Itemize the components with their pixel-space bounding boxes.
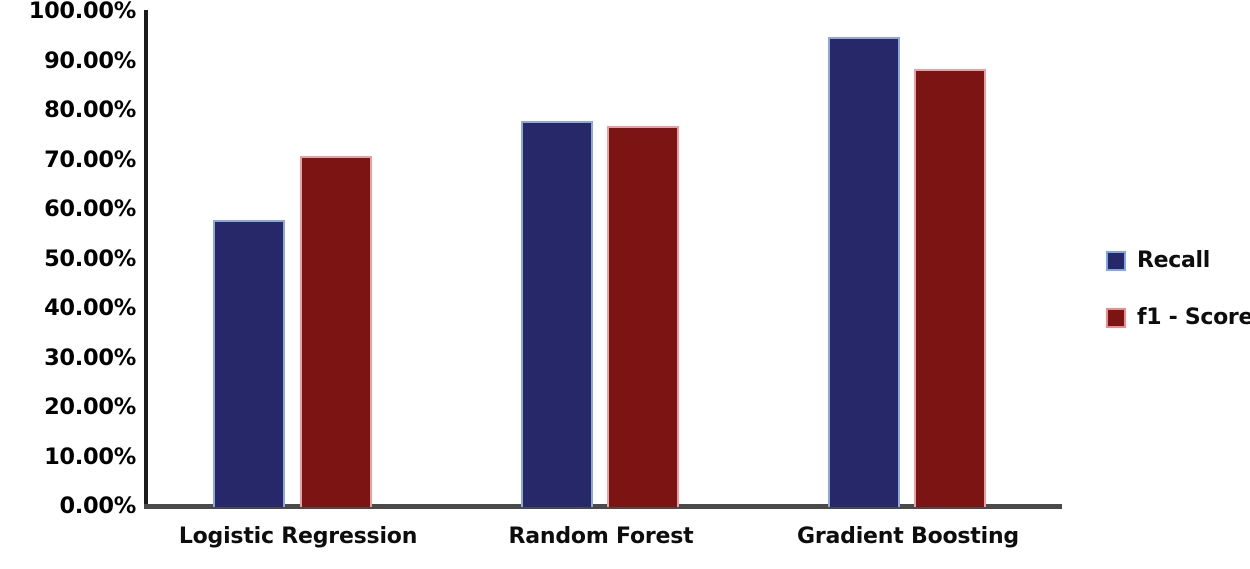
legend-swatch-f1-score-icon (1106, 308, 1126, 328)
y-axis-tick-label: 80.00% (0, 99, 136, 122)
legend-item-f1-score: f1 - Score (1106, 305, 1250, 330)
y-axis-tick-label: 70.00% (0, 149, 136, 172)
bar-recall-gradient-boosting (828, 37, 900, 507)
plot-area (148, 12, 1062, 507)
legend-label-f1-score: f1 - Score (1137, 305, 1250, 330)
bar-recall-random-forest (521, 121, 593, 507)
x-axis-label-random-forest: Random Forest (448, 524, 754, 549)
legend-swatch-recall-icon (1106, 251, 1126, 271)
y-axis-tick-label: 40.00% (0, 297, 136, 320)
bar-group-random-forest (448, 12, 754, 507)
y-axis-tick-label: 60.00% (0, 198, 136, 221)
y-axis-tick-label: 30.00% (0, 347, 136, 370)
bar-f1-gradient-boosting (914, 69, 986, 507)
bar-group-gradient-boosting (754, 12, 1062, 507)
x-axis-label-gradient-boosting: Gradient Boosting (754, 524, 1062, 549)
y-axis-tick-label: 10.00% (0, 446, 136, 469)
legend-item-recall: Recall (1106, 248, 1210, 273)
bar-chart: 100.00% 90.00% 80.00% 70.00% 60.00% 50.0… (0, 0, 1250, 569)
y-axis-tick-label: 100.00% (0, 0, 136, 23)
y-axis-tick-labels: 100.00% 90.00% 80.00% 70.00% 60.00% 50.0… (0, 0, 136, 520)
legend-label-recall: Recall (1137, 248, 1210, 273)
y-axis-tick-label: 20.00% (0, 396, 136, 419)
bar-group-logistic-regression (148, 12, 448, 507)
bar-f1-random-forest (607, 126, 679, 507)
bar-recall-logistic-regression (213, 220, 285, 507)
y-axis-tick-label: 50.00% (0, 248, 136, 271)
y-axis-tick-label: 0.00% (0, 495, 136, 518)
y-axis-tick-label: 90.00% (0, 50, 136, 73)
x-axis-label-logistic-regression: Logistic Regression (148, 524, 448, 549)
x-axis-category-labels: Logistic Regression Random Forest Gradie… (148, 524, 1062, 564)
bar-f1-logistic-regression (300, 156, 372, 507)
